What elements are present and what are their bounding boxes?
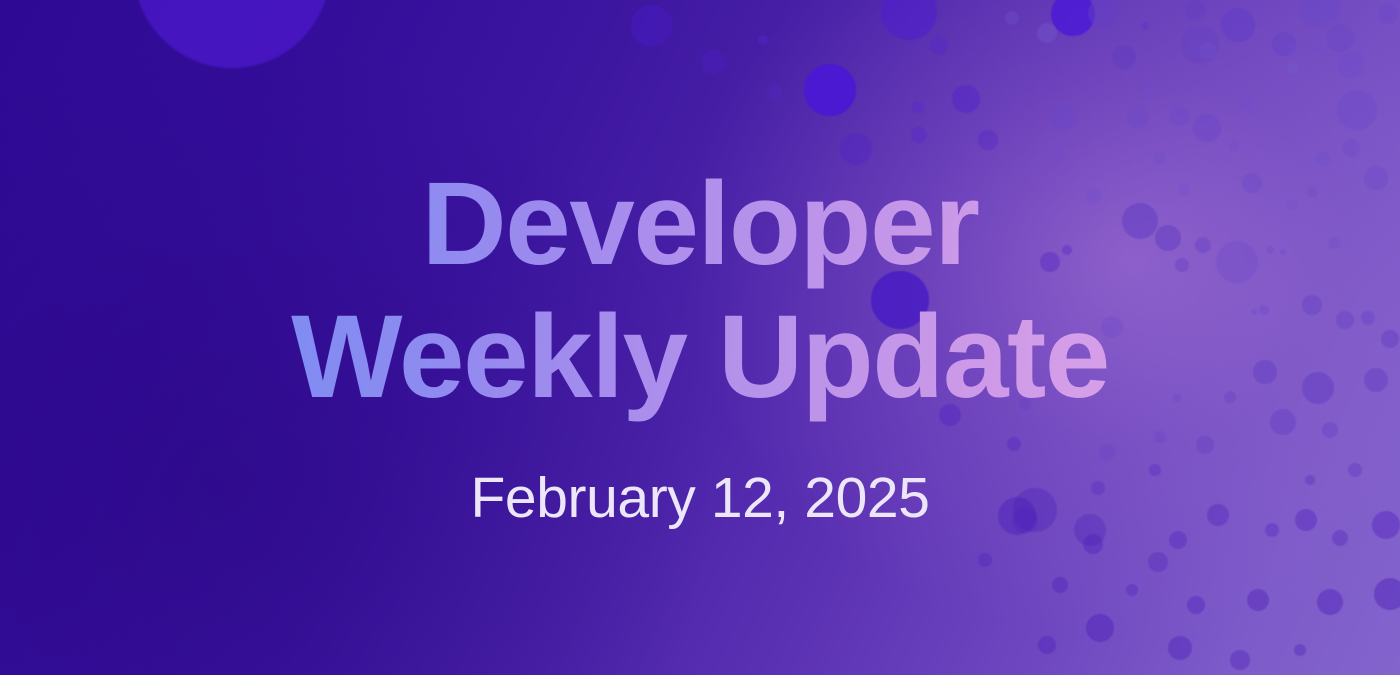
- title-line-2: Weekly Update: [291, 291, 1109, 424]
- page-title: Developer Weekly Update: [291, 158, 1109, 425]
- slide-date: February 12, 2025: [471, 465, 930, 531]
- slide-content: Developer Weekly Update February 12, 202…: [0, 0, 1400, 675]
- title-slide: Developer Weekly Update February 12, 202…: [0, 0, 1400, 675]
- title-line-1: Developer: [291, 158, 1109, 291]
